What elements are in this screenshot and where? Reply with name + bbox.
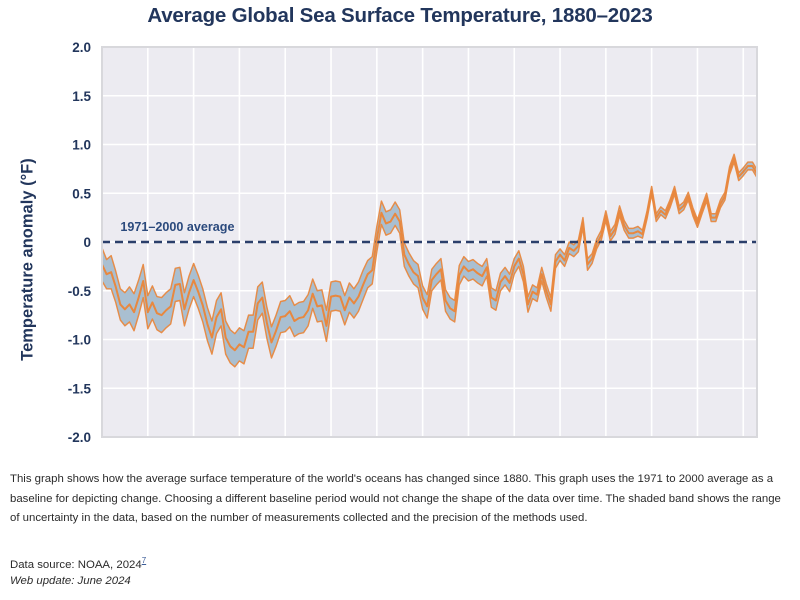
y-axis-title: Temperature anomaly (°F) [19, 80, 38, 440]
svg-text:2.0: 2.0 [72, 40, 91, 55]
svg-text:-1.0: -1.0 [68, 333, 91, 348]
footnote-link[interactable]: 7 [142, 556, 146, 565]
svg-text:-0.5: -0.5 [68, 284, 92, 299]
web-update-line: Web update: June 2024 [10, 575, 131, 587]
data-source-label: Data source: NOAA, 2024 [10, 559, 142, 571]
y-axis-tick-labels: 2.01.51.00.50-0.5-1.0-1.5-2.0 [68, 40, 92, 445]
sea-surface-temperature-chart: 2.01.51.00.50-0.5-1.0-1.5-2.0 1880190019… [0, 40, 800, 445]
svg-text:1971–2000 average: 1971–2000 average [120, 220, 234, 234]
chart-container: Temperature anomaly (°F) 2.01.51.00.50-0… [0, 40, 800, 445]
svg-text:1.5: 1.5 [72, 89, 91, 104]
svg-text:-2.0: -2.0 [68, 430, 91, 445]
baseline-annotation: 1971–2000 average [120, 220, 234, 234]
svg-text:0: 0 [83, 235, 91, 250]
page-title: Average Global Sea Surface Temperature, … [0, 4, 800, 28]
svg-text:1.0: 1.0 [72, 138, 91, 153]
data-source-line: Data source: NOAA, 20247 [10, 556, 146, 571]
svg-text:0.5: 0.5 [72, 186, 91, 201]
svg-text:-1.5: -1.5 [68, 381, 92, 396]
chart-caption: This graph shows how the average surface… [10, 470, 792, 529]
figure-page: Average Global Sea Surface Temperature, … [0, 0, 800, 600]
